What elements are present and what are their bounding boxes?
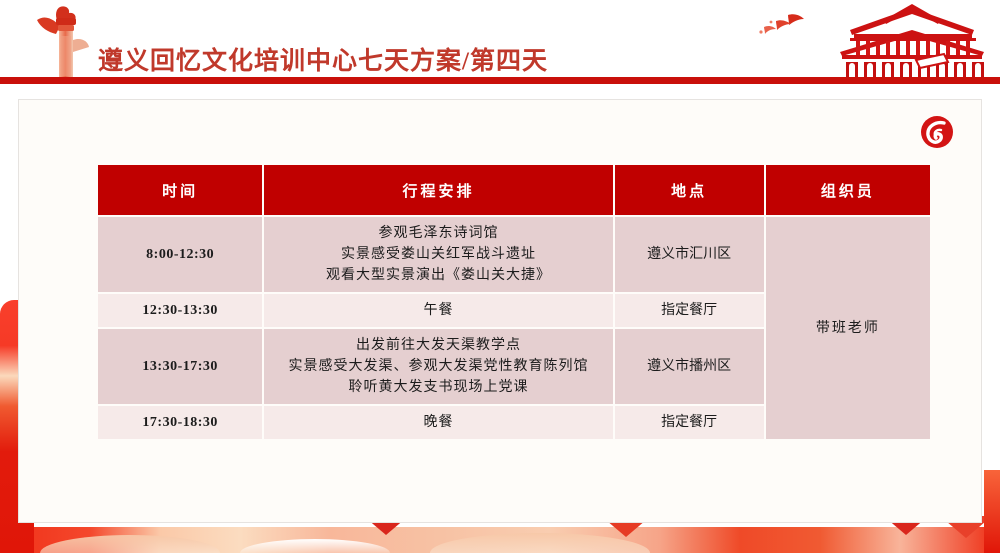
- cell-place: 遵义市播州区: [615, 329, 764, 404]
- cell-time: 17:30-18:30: [98, 406, 262, 439]
- cell-time: 13:30-17:30: [98, 329, 262, 404]
- itinerary-line: 实景感受娄山关红军战斗遗址: [268, 244, 608, 265]
- itinerary-line: 午餐: [268, 300, 608, 321]
- itinerary-line: 出发前往大发天渠教学点: [268, 335, 608, 356]
- schedule-table: 时间 行程安排 地点 组织员 8:00-12:30 参观毛泽东诗词馆 实景感受娄…: [96, 163, 932, 441]
- cell-itinerary: 晚餐: [264, 406, 612, 439]
- itinerary-line: 实景感受大发渠、参观大发渠党性教育陈列馆: [268, 356, 608, 377]
- cell-time: 12:30-13:30: [98, 294, 262, 327]
- itinerary-line: 观看大型实景演出《娄山关大捷》: [268, 265, 608, 286]
- itinerary-line: 参观毛泽东诗词馆: [268, 223, 608, 244]
- cell-place: 指定餐厅: [615, 406, 764, 439]
- column-header-itinerary: 行程安排: [264, 165, 612, 215]
- cell-place: 遵义市汇川区: [615, 217, 764, 292]
- itinerary-line: 晚餐: [268, 412, 608, 433]
- itinerary-line: 聆听黄大发支书现场上党课: [268, 377, 608, 398]
- page-header: 遵义回忆文化培训中心七天方案/第四天: [0, 0, 1000, 85]
- page-title: 遵义回忆文化培训中心七天方案/第四天: [98, 41, 548, 77]
- content-card: 时间 行程安排 地点 组织员 8:00-12:30 参观毛泽东诗词馆 实景感受娄…: [18, 99, 982, 523]
- cell-itinerary: 出发前往大发天渠教学点 实景感受大发渠、参观大发渠党性教育陈列馆 聆听黄大发支书…: [264, 329, 612, 404]
- cell-itinerary: 午餐: [264, 294, 612, 327]
- cell-itinerary: 参观毛泽东诗词馆 实景感受娄山关红军战斗遗址 观看大型实景演出《娄山关大捷》: [264, 217, 612, 292]
- cell-place: 指定餐厅: [615, 294, 764, 327]
- red-circular-swirl-logo-icon: [917, 112, 957, 152]
- header-red-rule: [0, 77, 1000, 84]
- column-header-place: 地点: [615, 165, 764, 215]
- flying-doves-icon: [758, 10, 810, 44]
- right-red-ribbon-decoration: [984, 470, 1000, 553]
- zunyi-conference-hall-icon: [820, 0, 1000, 82]
- column-header-time: 时间: [98, 165, 262, 215]
- slide-root: 遵义回忆文化培训中心七天方案/第四天: [0, 0, 1000, 553]
- cell-organizer-merged: 带班老师: [766, 217, 930, 439]
- torch-monument-icon: [34, 4, 90, 82]
- table-header-row: 时间 行程安排 地点 组织员: [98, 165, 930, 215]
- column-header-organizer: 组织员: [766, 165, 930, 215]
- table-row: 8:00-12:30 参观毛泽东诗词馆 实景感受娄山关红军战斗遗址 观看大型实景…: [98, 217, 930, 292]
- cell-time: 8:00-12:30: [98, 217, 262, 292]
